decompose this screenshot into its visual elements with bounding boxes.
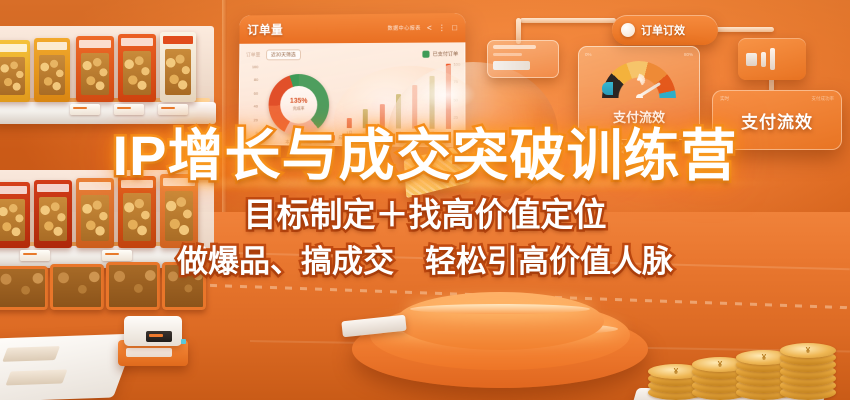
paycard-meta-left: 实时 <box>720 96 729 102</box>
more-icon[interactable]: ⋮ <box>438 24 446 32</box>
page-title: IP增长与成交突破训练营 <box>0 128 850 184</box>
stage-podium <box>352 292 648 400</box>
product-pack <box>118 34 156 102</box>
maximize-icon[interactable]: □ <box>452 24 457 32</box>
pill-label: 订单订效 <box>641 22 685 38</box>
gauge-hub <box>636 94 643 98</box>
data-node-card[interactable] <box>487 40 559 78</box>
panel-controls-row: 订单量 近30天筛选 已支付订单 <box>246 47 458 60</box>
legend-swatch-icon <box>422 50 429 57</box>
gauge-corner-tr: 80% <box>684 52 693 57</box>
product-pack <box>34 38 70 102</box>
order-efficiency-pill[interactable]: 订单订效 <box>612 15 718 45</box>
price-tag <box>114 104 144 115</box>
panel-toolbar[interactable]: 数据中心报表 < ⋮ □ <box>388 24 458 33</box>
poster-canvas: 订单量 数据中心报表 < ⋮ □ 订单量 近30天筛选 已支付订单 100806… <box>0 0 850 400</box>
gauge-dial <box>602 61 676 98</box>
filter-chip[interactable]: 近30天筛选 <box>266 49 301 60</box>
product-pack <box>0 40 30 102</box>
price-tag <box>70 104 100 115</box>
price-tag <box>158 104 188 115</box>
donut-center: 135% 完成率 <box>280 86 317 124</box>
gauge-corner-tl: 0% <box>585 52 592 57</box>
switch-lever-icon[interactable] <box>761 52 766 67</box>
subtitle-line-1: 目标制定＋找高价值定位 <box>0 198 850 231</box>
pallet-box <box>2 346 60 362</box>
poster-text-block: IP增长与成交突破训练营 目标制定＋找高价值定位 做爆品、搞成交 轻松引高价值人… <box>0 128 850 277</box>
panel-title: 订单量 <box>247 21 283 38</box>
switch-module[interactable] <box>738 38 806 80</box>
product-pack <box>160 32 196 102</box>
panel-tool-label: 数据中心报表 <box>388 25 421 32</box>
paycard-meta-right: 支付成功率 <box>812 96 835 102</box>
coin-stacks <box>648 302 848 400</box>
panel-header: 订单量 数据中心报表 < ⋮ □ <box>239 13 465 44</box>
share-icon[interactable]: < <box>427 24 432 32</box>
status-dot-icon <box>621 23 635 37</box>
donut-sublabel: 完成率 <box>293 106 305 112</box>
switch-chip-icon <box>746 53 757 66</box>
device-screen <box>146 331 172 342</box>
subtitle-line-2: 做爆品、搞成交 轻松引高价值人脉 <box>0 246 850 277</box>
podium-ring <box>396 292 604 350</box>
legend-label: 已支付订单 <box>433 50 459 57</box>
flow-wire <box>712 27 774 32</box>
panel-axis-label: 订单量 <box>246 51 260 58</box>
device-indicator-icon <box>181 339 186 344</box>
gauge-ticks <box>602 61 676 98</box>
card-line <box>493 45 536 49</box>
product-pack <box>76 36 114 102</box>
donut-value: 135% <box>290 98 308 105</box>
flow-wire <box>520 18 616 23</box>
podium-glow-ring <box>410 304 590 314</box>
chart-legend: 已支付订单 <box>422 50 458 57</box>
coin-stack <box>780 314 836 400</box>
switch-lever-icon[interactable] <box>770 48 775 70</box>
pallet-box <box>6 369 68 385</box>
pos-scanner-device <box>118 312 188 366</box>
card-line <box>493 53 522 56</box>
card-chip <box>493 61 530 70</box>
